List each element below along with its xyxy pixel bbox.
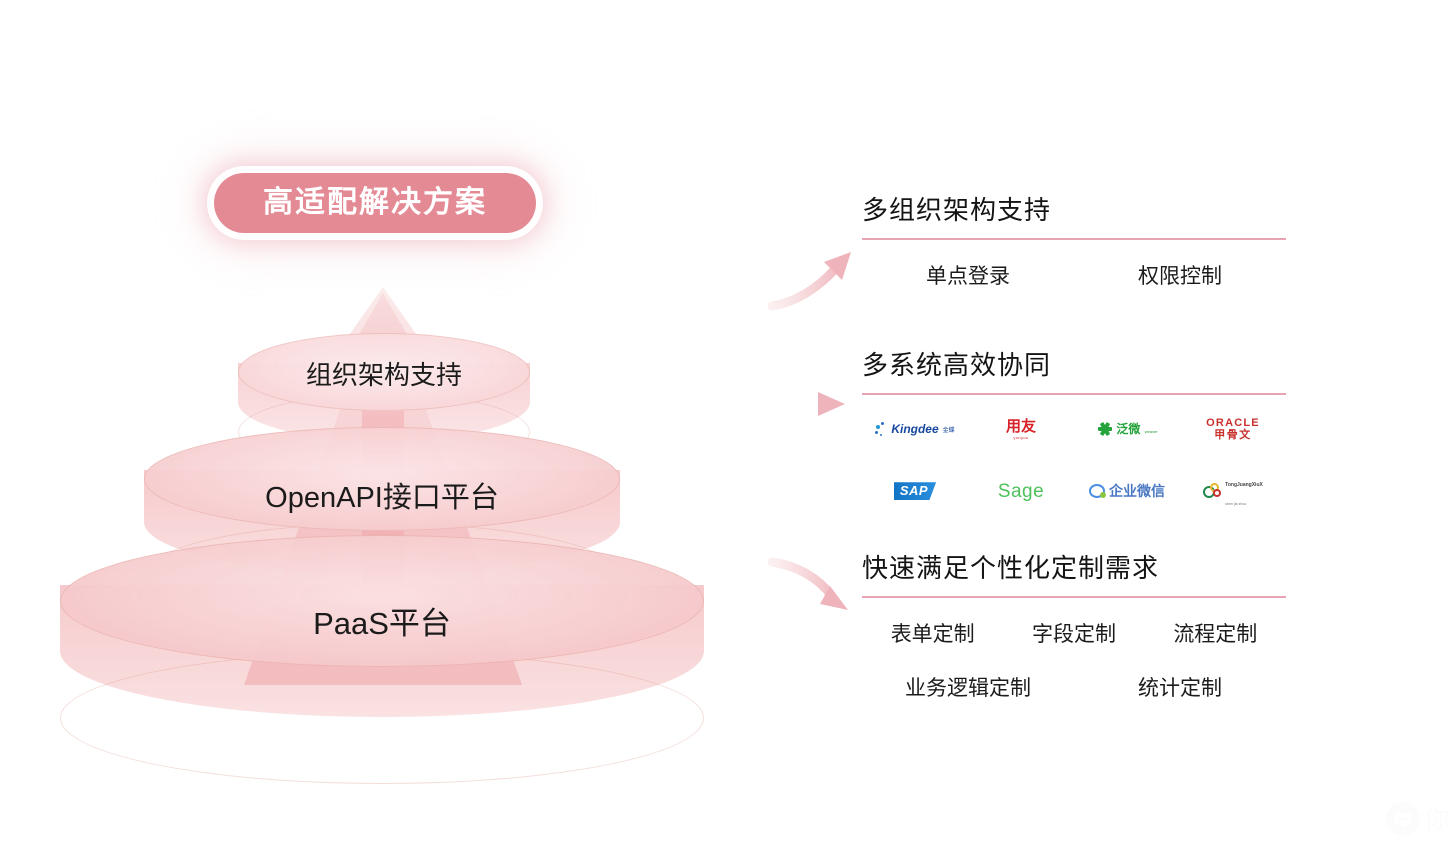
tongbanjie-logo: TongJuangXiuX shen jia zhou <box>1203 472 1263 510</box>
tag-item[interactable]: 权限控制 <box>1074 260 1286 290</box>
partner-logo-grid: Kingdee 金蝶 用友 yonyou 泛微 weaver <box>862 409 1286 511</box>
tier-label-paas: PaaS平台 <box>60 598 704 643</box>
tag-item[interactable]: 字段定制 <box>1003 618 1144 648</box>
section-divider <box>862 393 1286 395</box>
pyramid-diagram: 组织架构支持 OpenAPI接口平台 PaaS平台 <box>52 265 712 755</box>
kingdee-cn-label: 金蝶 <box>943 425 955 434</box>
oracle-logo: ORACLE 甲骨文 <box>1206 417 1260 442</box>
section-heading: 快速满足个性化定制需求 <box>862 553 1286 584</box>
watermark-badge-icon <box>1386 802 1420 836</box>
oracle-cn-label: 甲骨文 <box>1206 429 1260 442</box>
tag-item[interactable]: 统计定制 <box>1074 672 1286 702</box>
tag-item[interactable]: 流程定制 <box>1145 618 1286 648</box>
tongbanjie-en-label: TongJuangXiuX <box>1225 482 1263 488</box>
section-heading: 多系统高效协同 <box>862 350 1286 381</box>
tier-label-organization: 组织架构支持 <box>238 355 530 392</box>
section-heading: 多组织架构支持 <box>862 195 1286 226</box>
logo-cell[interactable]: Kingdee 金蝶 <box>862 409 968 449</box>
logo-cell[interactable]: TongJuangXiuX shen jia zhou <box>1180 471 1286 511</box>
yonyou-cn-label: 用友 <box>1006 419 1036 434</box>
logo-cell[interactable]: 泛微 weaver <box>1074 409 1180 449</box>
section-divider <box>862 596 1286 598</box>
arrow-straight <box>765 392 845 416</box>
tier-bottom-lower-edge <box>60 652 704 784</box>
weaver-en-label: weaver <box>1145 429 1158 434</box>
solution-title-badge: 高适配解决方案 <box>214 173 536 233</box>
kingdee-wordmark: Kingdee <box>891 422 938 436</box>
kingdee-logo: Kingdee 金蝶 <box>875 422 954 437</box>
logo-cell[interactable]: ORACLE 甲骨文 <box>1180 409 1286 449</box>
watermark-text: 你 <box>1424 806 1450 832</box>
section-divider <box>862 238 1286 240</box>
tag-item[interactable]: 单点登录 <box>862 260 1074 290</box>
tag-item[interactable]: 业务逻辑定制 <box>862 672 1074 702</box>
section-multi-org: 多组织架构支持 单点登录 权限控制 <box>862 195 1286 290</box>
sage-logo: Sage <box>998 482 1044 501</box>
section-multi-system: 多系统高效协同 Kingdee 金蝶 用友 yonyou <box>862 350 1286 511</box>
watermark: 你 <box>1386 802 1450 836</box>
tag-item[interactable]: 表单定制 <box>862 618 1003 648</box>
section-customization: 快速满足个性化定制需求 表单定制 字段定制 流程定制 业务逻辑定制 统计定制 <box>862 553 1286 702</box>
weaver-star-icon <box>1096 421 1113 438</box>
logo-cell[interactable]: SAP <box>862 471 968 511</box>
tier-label-openapi: OpenAPI接口平台 <box>144 474 620 516</box>
tag-row: 单点登录 权限控制 <box>862 260 1286 290</box>
yonyou-en-label: yonyou <box>1006 436 1036 440</box>
kingdee-dots-icon <box>875 422 888 437</box>
weaver-cn-label: 泛微 <box>1116 422 1140 436</box>
tag-row: 业务逻辑定制 统计定制 <box>862 672 1286 702</box>
logo-cell[interactable]: 企业微信 <box>1074 471 1180 511</box>
chat-bubble-icon <box>1089 484 1105 498</box>
oracle-en-label: ORACLE <box>1206 417 1260 430</box>
logo-cell[interactable]: Sage <box>968 471 1074 511</box>
sap-logo: SAP <box>894 482 936 500</box>
tri-ring-icon <box>1203 483 1221 499</box>
logo-cell[interactable]: 用友 yonyou <box>968 409 1074 449</box>
arrow-curved-up <box>772 252 851 306</box>
wecom-cn-label: 企业微信 <box>1109 481 1165 501</box>
arrow-curved-down <box>772 562 848 610</box>
weaver-logo: 泛微 weaver <box>1096 421 1157 438</box>
yonyou-logo: 用友 yonyou <box>1006 419 1036 440</box>
tongbanjie-sub-label: shen jia zhou <box>1225 502 1246 506</box>
chat-bubble-icon <box>1394 813 1411 825</box>
wecom-logo: 企业微信 <box>1089 481 1165 501</box>
tag-row: 表单定制 字段定制 流程定制 <box>862 618 1286 648</box>
solution-title-label: 高适配解决方案 <box>263 188 487 218</box>
